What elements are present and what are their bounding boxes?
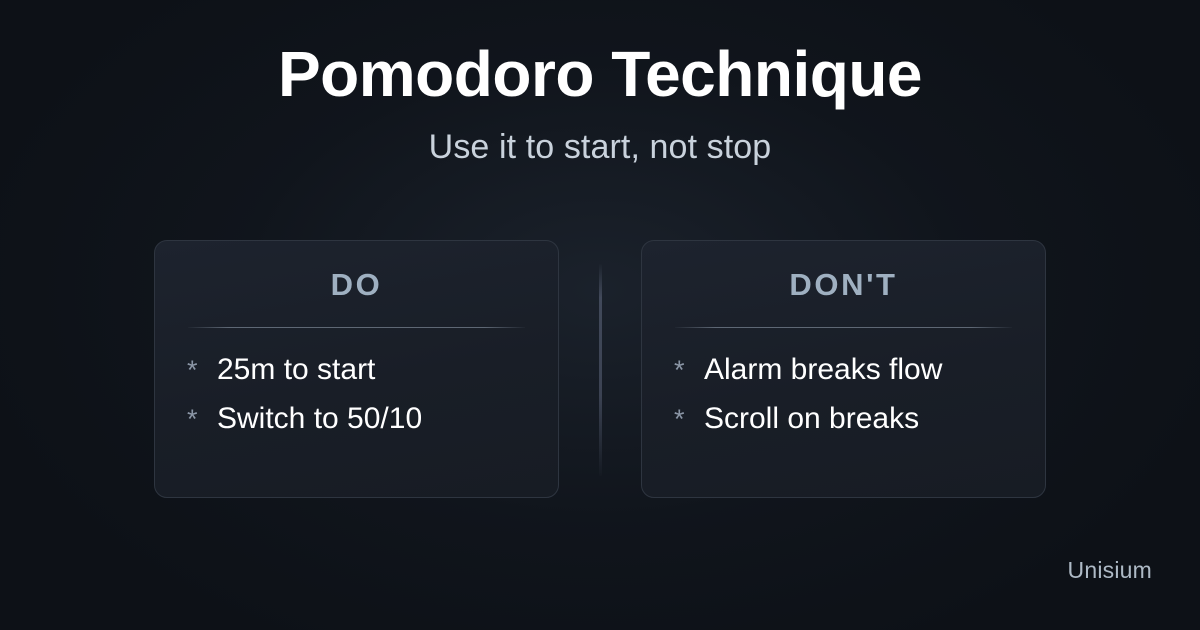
brand-watermark: Unisium (1068, 559, 1152, 582)
list-item-label: 25m to start (217, 352, 526, 389)
do-card: DO * 25m to start * Switch to 50/10 (154, 240, 559, 498)
asterisk-bullet-icon: * (674, 354, 704, 387)
asterisk-bullet-icon: * (187, 403, 217, 436)
do-card-heading: DO (187, 267, 526, 305)
do-card-list: * 25m to start * Switch to 50/10 (187, 328, 526, 445)
list-item-label: Alarm breaks flow (704, 352, 1013, 389)
dont-card: DON'T * Alarm breaks flow * Scroll on br… (641, 240, 1046, 498)
asterisk-bullet-icon: * (674, 403, 704, 436)
header: Pomodoro Technique Use it to start, not … (0, 42, 1200, 167)
vertical-divider (599, 264, 602, 476)
list-item-label: Switch to 50/10 (217, 401, 526, 438)
list-item: * 25m to start (187, 346, 526, 396)
list-item: * Alarm breaks flow (674, 346, 1013, 396)
page-subtitle: Use it to start, not stop (0, 107, 1200, 166)
poster-canvas: Pomodoro Technique Use it to start, not … (0, 0, 1200, 630)
dont-card-heading: DON'T (674, 267, 1013, 305)
page-title: Pomodoro Technique (0, 42, 1200, 107)
asterisk-bullet-icon: * (187, 354, 217, 387)
list-item: * Scroll on breaks (674, 395, 1013, 445)
list-item-label: Scroll on breaks (704, 401, 1013, 438)
list-item: * Switch to 50/10 (187, 395, 526, 445)
dont-card-list: * Alarm breaks flow * Scroll on breaks (674, 328, 1013, 445)
